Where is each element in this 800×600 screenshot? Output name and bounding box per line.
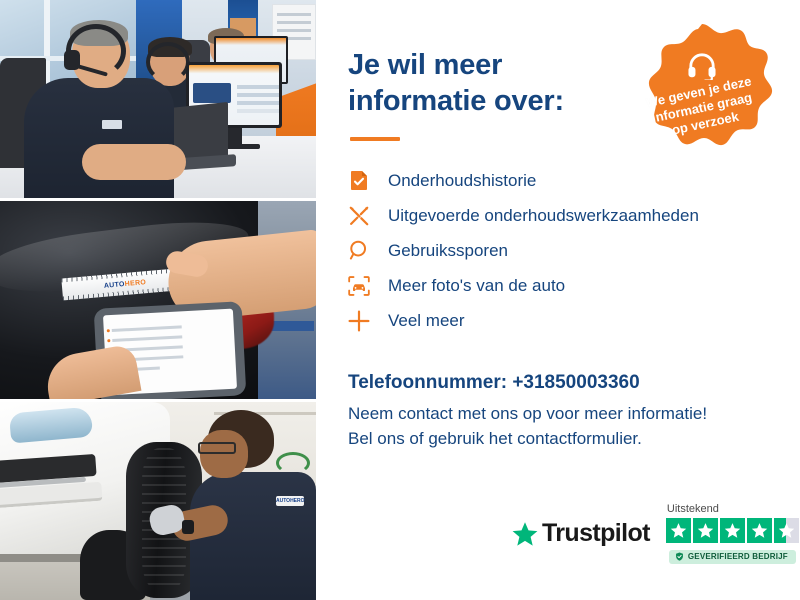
car-photo-scan-icon [348, 275, 370, 297]
technician-glasses [198, 442, 236, 454]
feature-label: Uitgevoerde onderhoudswerkzaamheden [388, 206, 699, 226]
rating-label: Uitstekend [667, 503, 719, 515]
checklist-icon [348, 170, 370, 192]
star-tile [693, 518, 718, 543]
trustpilot-logo: Trustpilot [512, 519, 650, 548]
feature-item-gebruikssporen: Gebruikssporen [348, 233, 760, 268]
title-divider [350, 137, 400, 141]
photo-column: AUTOHERO [0, 0, 316, 600]
star-tile-half [774, 518, 799, 543]
agent-one [24, 22, 176, 198]
feature-label: Veel meer [388, 311, 465, 331]
verified-company-label: GEVERIFIEERD BEDRIJF [688, 552, 788, 561]
support-badge: We geven je deze informatie graag op ver… [622, 22, 782, 180]
feature-list: Onderhoudshistorie Uitgev [348, 163, 760, 338]
car-inspection-ruler-photo: AUTOHERO [0, 201, 316, 399]
feature-label: Meer foto's van de auto [388, 276, 565, 296]
content-panel: Je wil meer informatie over: Onderhoudsh… [316, 0, 800, 600]
ruler-brand-auto: AUTO [104, 281, 125, 290]
call-center-agents-photo [0, 0, 316, 198]
feature-item-onderhoudswerkzaamheden: Uitgevoerde onderhoudswerkzaamheden [348, 198, 760, 233]
badge-text: We geven je deze informatie graag op ver… [640, 72, 763, 143]
workshop-technician: AUTOHERO [190, 410, 316, 600]
inspector-hand-holding-tablet [43, 343, 142, 399]
trustpilot-star-icon [512, 521, 538, 547]
star-tile [666, 518, 691, 543]
feature-item-meer-fotos: Meer foto's van de auto [348, 268, 760, 303]
headset-icon [687, 52, 717, 80]
contact-line-2: Bel ons of gebruik het contactformulier. [348, 427, 760, 452]
ruler-brand-hero: HERO [124, 279, 146, 288]
feature-label: Gebruikssporen [388, 241, 508, 261]
tools-icon [348, 205, 370, 227]
trustpilot-wordmark: Trustpilot [542, 519, 650, 548]
trustpilot-rating: Uitstekend [666, 503, 799, 564]
trustpilot-widget[interactable]: Trustpilot Uitstekend [512, 503, 799, 564]
verified-company-badge: GEVERIFIEERD BEDRIJF [669, 550, 796, 564]
feature-item-veel-meer: Veel meer [348, 303, 760, 338]
star-tile [720, 518, 745, 543]
feature-label: Onderhoudshistorie [388, 171, 536, 191]
phone-number[interactable]: Telefoonnummer: +31850003360 [348, 372, 760, 394]
star-tile [747, 518, 772, 543]
promo-banner: AUTOHERO [0, 0, 800, 600]
contact-line-1: Neem contact met ons op voor meer inform… [348, 402, 760, 427]
magnifier-icon [348, 240, 370, 262]
plus-icon [348, 310, 370, 332]
shield-check-icon [675, 552, 684, 561]
rating-stars [666, 518, 799, 543]
contact-block: Telefoonnummer: +31850003360 Neem contac… [348, 372, 760, 451]
tire-inspection-workshop-photo: AUTOHERO [0, 402, 316, 600]
car-headlight [9, 406, 93, 443]
technician-shirt-logo: AUTOHERO [276, 496, 304, 506]
page-title: Je wil meer informatie over: [348, 48, 608, 119]
technician-watch [182, 520, 194, 534]
